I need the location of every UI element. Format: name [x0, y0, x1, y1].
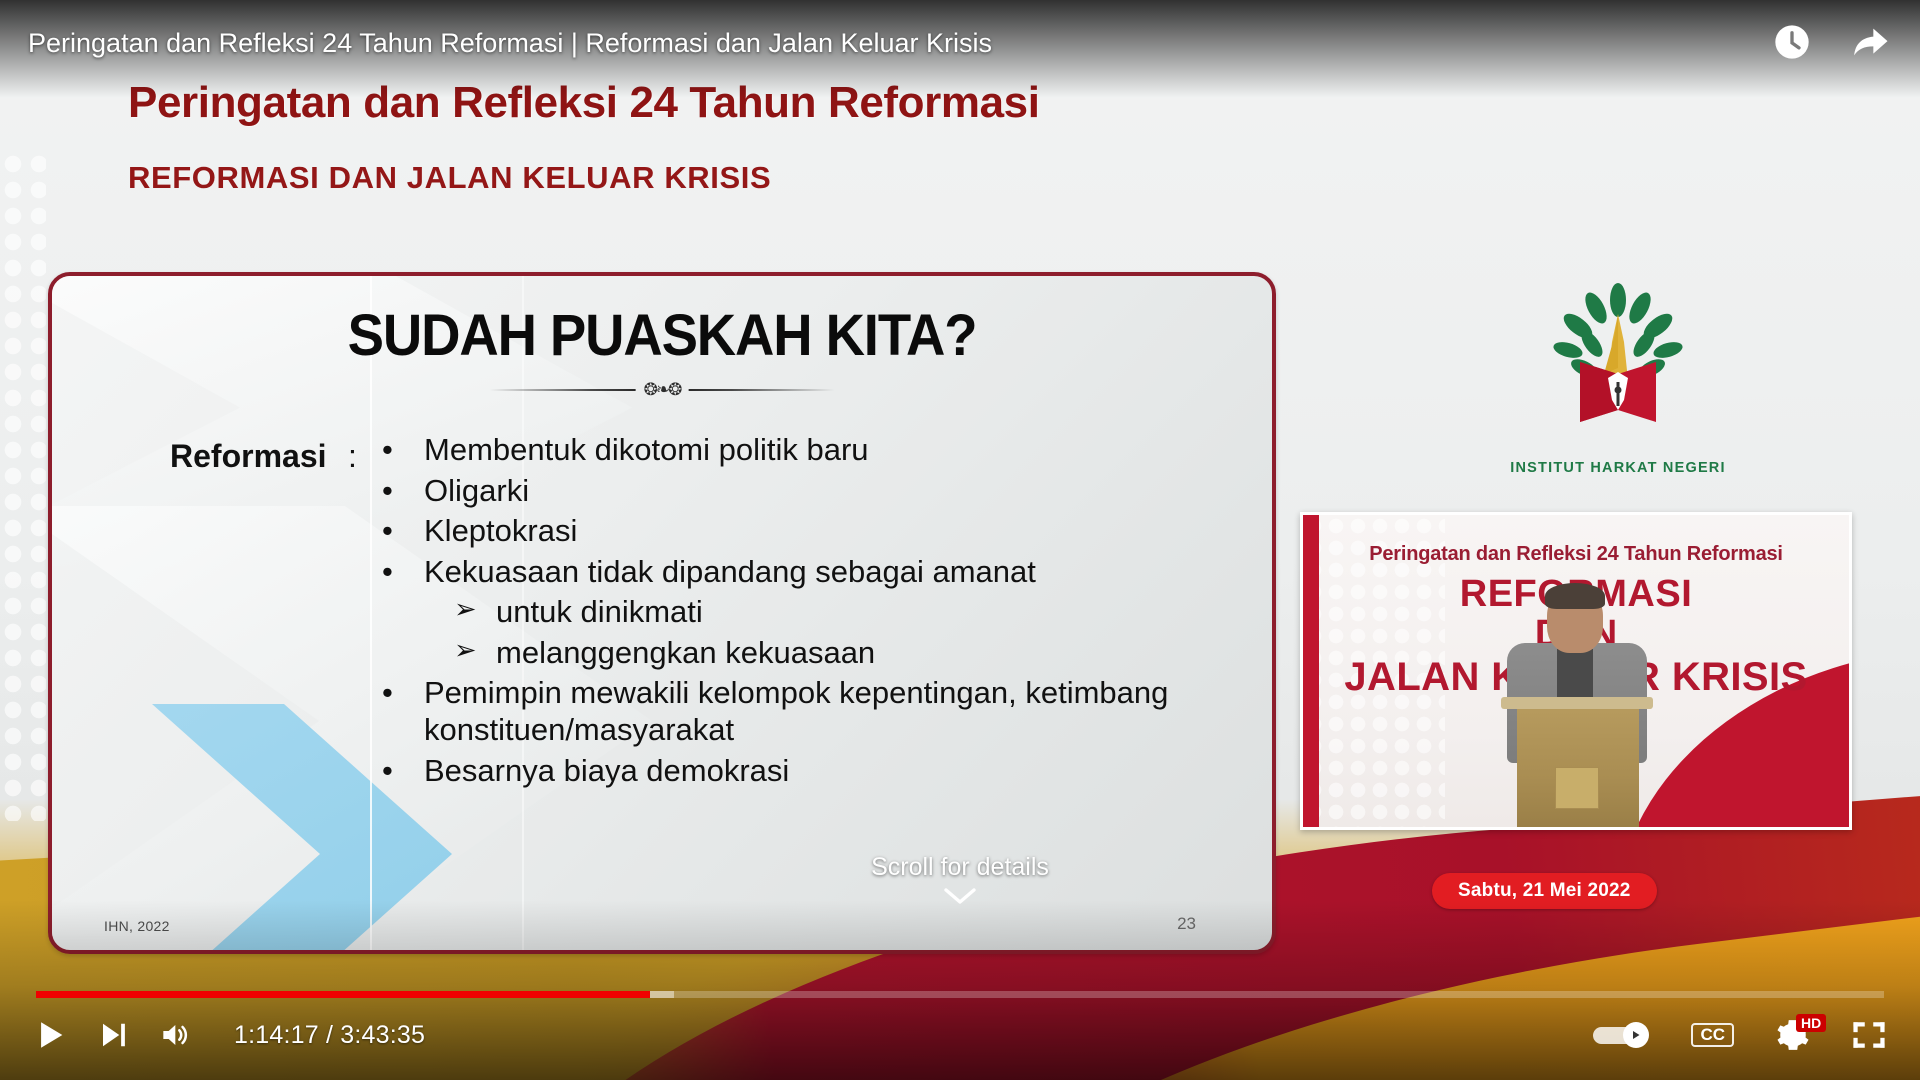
speaker-video-inset: Peringatan dan Refleksi 24 Tahun Reforma…	[1300, 512, 1852, 830]
list-item: • Besarnya biaya demokrasi	[382, 753, 1242, 790]
progress-bar[interactable]	[36, 991, 1884, 998]
chevron-down-icon[interactable]	[0, 886, 1920, 912]
list-item: • Kekuasaan tidak dipandang sebagai aman…	[382, 554, 1242, 591]
bullet-text: Kekuasaan tidak dipandang sebagai amanat	[424, 554, 1242, 591]
bullet-marker-icon: ➢	[454, 594, 496, 631]
bullet-text: Kleptokrasi	[424, 513, 1242, 550]
background-dot-pattern	[0, 151, 46, 821]
bullet-marker-icon: •	[382, 675, 424, 748]
slide-colon: :	[348, 438, 357, 475]
exit-fullscreen-icon[interactable]	[1852, 1018, 1886, 1052]
bullet-text: Besarnya biaya demokrasi	[424, 753, 1242, 790]
progress-played	[36, 991, 650, 998]
bullet-marker-icon: •	[382, 554, 424, 591]
clock-icon[interactable]	[1772, 22, 1812, 62]
list-item: • Pemimpin mewakili kelompok kepentingan…	[382, 675, 1242, 748]
slide-header-subtitle: REFORMASI DAN JALAN KELUAR KRISIS	[128, 160, 771, 196]
bullet-text: Oligarki	[424, 473, 1242, 510]
closed-captions-button[interactable]: CC	[1691, 1023, 1734, 1048]
institut-harkat-negeri-logo-icon	[1534, 282, 1702, 450]
bullet-text: Pemimpin mewakili kelompok kepentingan, …	[424, 675, 1242, 748]
bullet-marker-icon: ➢	[454, 635, 496, 672]
speaker-at-podium-icon	[1461, 577, 1691, 827]
slide-source-footer: IHN, 2022	[104, 918, 170, 934]
top-action-icons	[1772, 22, 1890, 62]
slide-content-card: SUDAH PUASKAH KITA? ❂❧❂ Reformasi : • Me…	[48, 272, 1276, 954]
autoplay-toggle[interactable]	[1593, 1022, 1649, 1048]
bullet-marker-icon: •	[382, 753, 424, 790]
share-icon[interactable]	[1850, 22, 1890, 62]
player-controls: 1:14:17 / 3:43:35 CC HD	[0, 1004, 1920, 1066]
play-icon[interactable]	[34, 1018, 68, 1052]
bullet-text: untuk dinikmati	[496, 594, 1242, 631]
slide-bullet-list: • Membentuk dikotomi politik baru • Olig…	[382, 432, 1242, 793]
institute-logo-block: INSTITUT HARKAT NEGERI	[1498, 282, 1738, 476]
volume-icon[interactable]	[158, 1019, 190, 1051]
video-title: Peringatan dan Refleksi 24 Tahun Reforma…	[28, 28, 992, 59]
list-item: • Membentuk dikotomi politik baru	[382, 432, 1242, 469]
next-track-icon[interactable]	[98, 1020, 128, 1050]
logo-caption: INSTITUT HARKAT NEGERI	[1498, 460, 1738, 476]
bullet-text: melanggengkan kekuasaan	[496, 635, 1242, 672]
controls-right-group: CC HD	[1593, 1018, 1886, 1052]
bullet-marker-icon: •	[382, 432, 424, 469]
list-item: ➢ melanggengkan kekuasaan	[382, 635, 1242, 672]
hd-quality-badge: HD	[1796, 1014, 1826, 1032]
video-frame: Peringatan dan Refleksi 24 Tahun Reforma…	[0, 0, 1920, 1080]
scroll-for-details-label: Scroll for details	[0, 853, 1920, 882]
slide-page-number: 23	[1177, 914, 1196, 934]
settings-button[interactable]: HD	[1776, 1018, 1810, 1052]
bullet-marker-icon: •	[382, 513, 424, 550]
video-player-stage: Peringatan dan Refleksi 24 Tahun Reforma…	[0, 0, 1920, 1080]
inset-backdrop-line1: Peringatan dan Refleksi 24 Tahun Reforma…	[1303, 543, 1849, 566]
divider-ornament-icon: ❂❧❂	[644, 380, 681, 400]
time-display: 1:14:17 / 3:43:35	[234, 1021, 425, 1050]
list-item: • Oligarki	[382, 473, 1242, 510]
bullet-marker-icon: •	[382, 473, 424, 510]
list-item: • Kleptokrasi	[382, 513, 1242, 550]
controls-left-group: 1:14:17 / 3:43:35	[34, 1018, 425, 1052]
slide-lead-label: Reformasi	[170, 438, 327, 475]
ornamental-divider: ❂❧❂	[490, 380, 835, 400]
list-item: ➢ untuk dinikmati	[382, 594, 1242, 631]
slide-heading: SUDAH PUASKAH KITA?	[89, 302, 1236, 369]
bullet-text: Membentuk dikotomi politik baru	[424, 432, 1242, 469]
